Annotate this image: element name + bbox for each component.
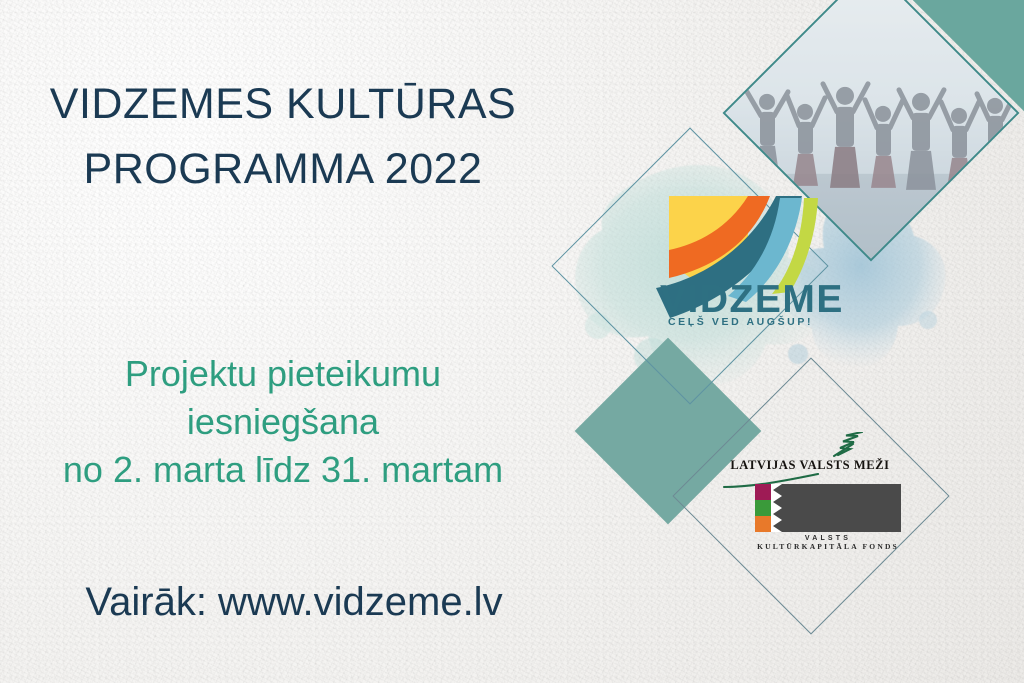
lvm-name: LATVIJAS VALSTS MEŽI	[722, 458, 898, 473]
kkf-name-line2: KULTŪRKAPITĀLA FONDS	[755, 542, 901, 551]
kkf-name-line1: VALSTS	[755, 535, 901, 542]
body-line-1: Projektu pieteikumu	[0, 350, 566, 398]
lvm-tree-icon	[722, 432, 898, 458]
body-line-2: iesniegšana	[0, 398, 566, 446]
submission-period-text: Projektu pieteikumu iesniegšana no 2. ma…	[0, 350, 566, 494]
lvm-logo: LATVIJAS VALSTS MEŽI	[722, 432, 898, 489]
kkf-logo: VALSTS KULTŪRKAPITĀLA FONDS	[755, 484, 901, 551]
title-line-2: PROGRAMMA 2022	[0, 137, 566, 202]
more-info-link[interactable]: Vairāk: www.vidzeme.lv	[0, 580, 588, 625]
page-title: VIDZEMES KULTŪRAS PROGRAMMA 2022	[0, 72, 566, 203]
body-line-3: no 2. marta līdz 31. martam	[0, 446, 566, 494]
title-line-1: VIDZEMES KULTŪRAS	[0, 72, 566, 137]
vidzeme-tagline: CEĻŠ VED AUGŠUP!	[668, 316, 813, 328]
poster-canvas: VIDZEME CEĻŠ VED AUGŠUP! LATVIJAS VALSTS…	[0, 0, 1024, 683]
kkf-mark-icon	[755, 484, 901, 532]
